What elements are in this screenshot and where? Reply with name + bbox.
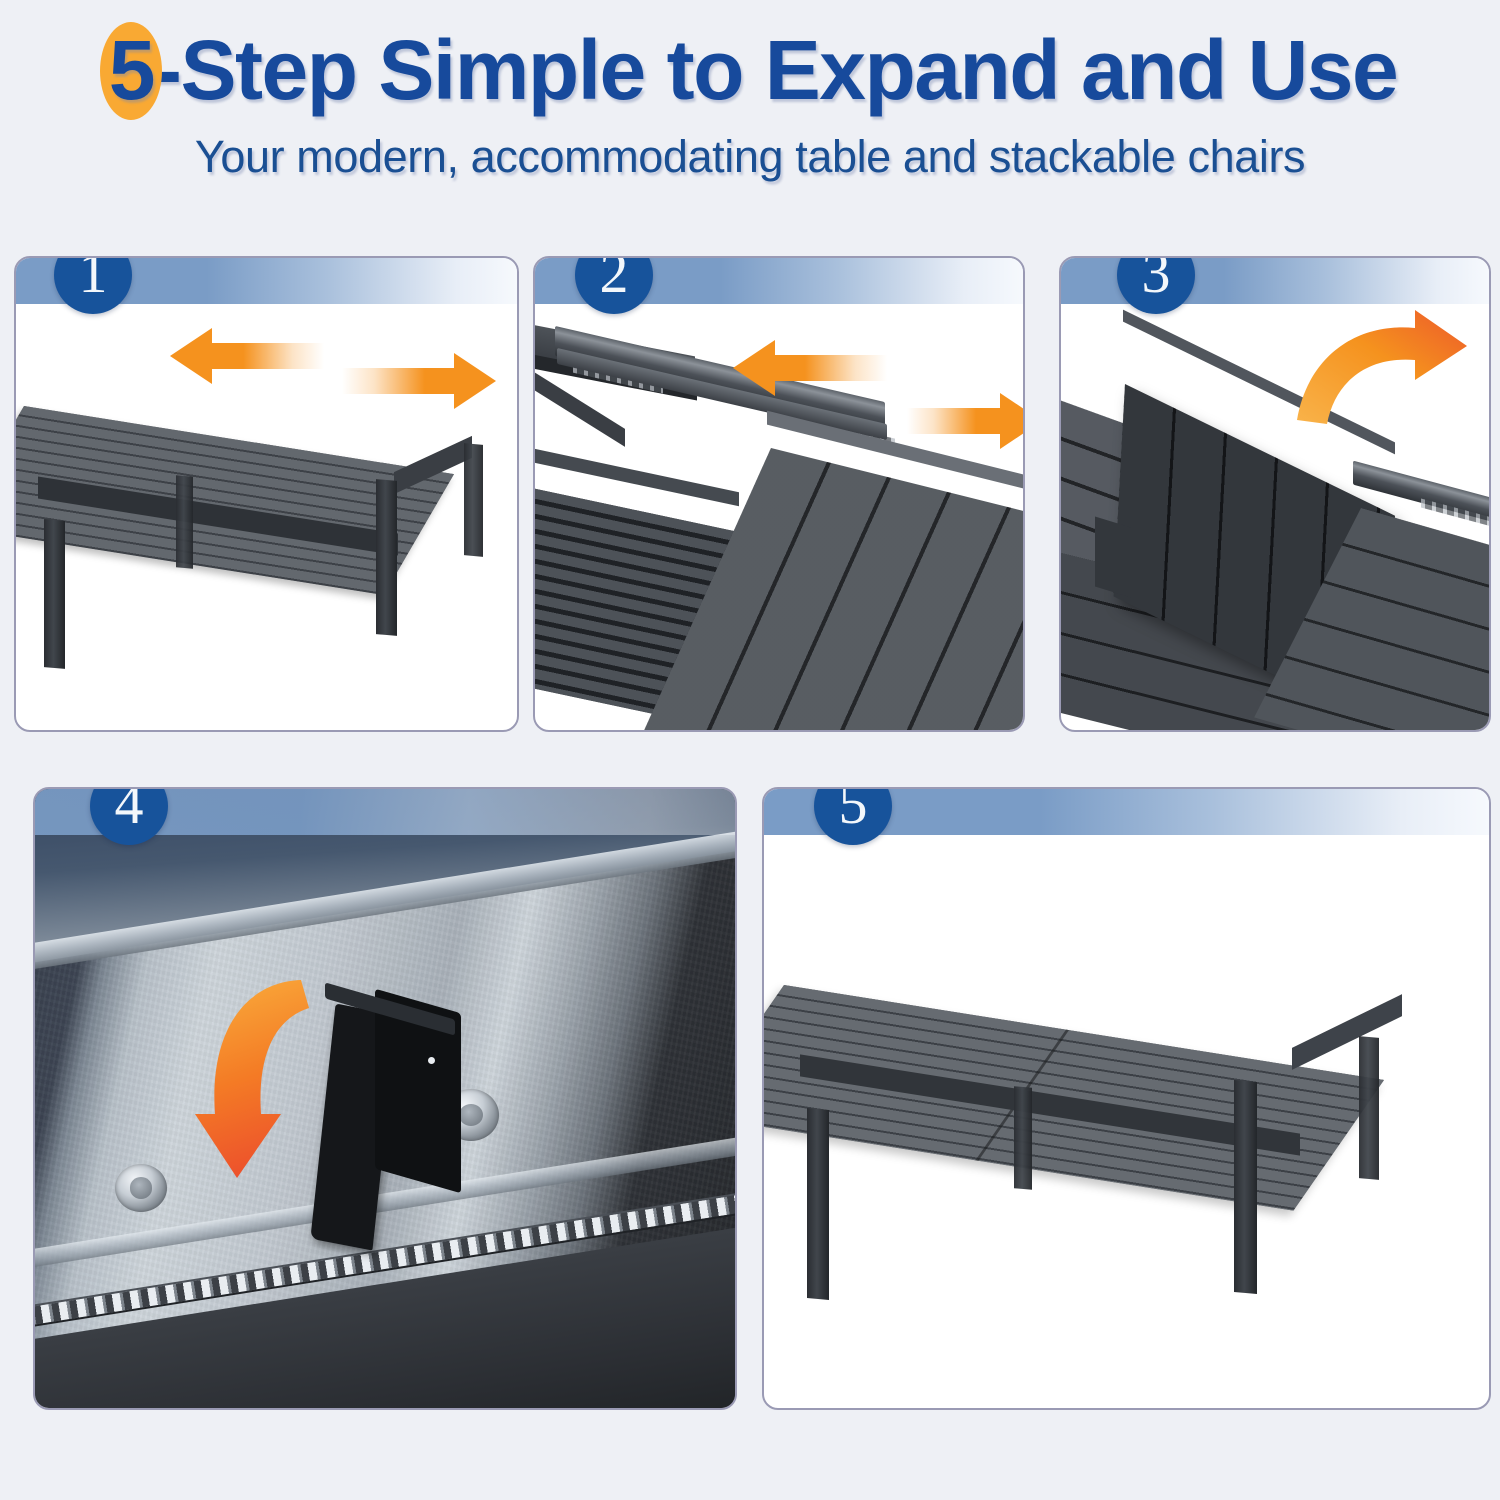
- step-2-illustration: [535, 258, 1023, 730]
- expand-arrow-right: [907, 408, 1025, 434]
- step-card-1: 1: [14, 256, 519, 732]
- step-3-illustration: [1061, 258, 1489, 730]
- curved-arrow-down-icon: [185, 974, 315, 1199]
- table-leg-front-right: [376, 479, 397, 636]
- expand-arrow-left: [747, 355, 887, 381]
- expanded-table-leg-front-left: [807, 1108, 829, 1300]
- latch-screw-hole: [428, 1057, 435, 1064]
- step-card-5: 5: [762, 787, 1491, 1410]
- leaf-support-bracket: [1095, 516, 1131, 597]
- step-card-4: 4: [33, 787, 737, 1410]
- expand-arrow-left: [184, 343, 324, 369]
- expand-arrow-right: [342, 368, 492, 394]
- step-card-3: 3: [1059, 256, 1491, 732]
- steps-grid: 1: [0, 0, 1500, 1500]
- step-5-illustration: [764, 789, 1489, 1408]
- step-card-2: 2: [533, 256, 1025, 732]
- curved-arrow-right-icon: [1291, 308, 1471, 428]
- table-leg-back-right: [464, 443, 483, 557]
- expanded-table-apron-side: [1292, 994, 1402, 1070]
- title-number-highlight: 5: [109, 26, 154, 115]
- rivet-left: [115, 1164, 167, 1212]
- expanded-table-leg-front-mid: [1014, 1086, 1032, 1190]
- table-leg-back-left: [176, 475, 193, 568]
- step-1-illustration: [16, 258, 517, 730]
- expanded-table-leg-front-right: [1234, 1080, 1257, 1294]
- latch-closeup-photo: [35, 789, 735, 1408]
- expanded-table-leg-back-right: [1359, 1036, 1379, 1180]
- table-leg-front-left: [44, 519, 65, 669]
